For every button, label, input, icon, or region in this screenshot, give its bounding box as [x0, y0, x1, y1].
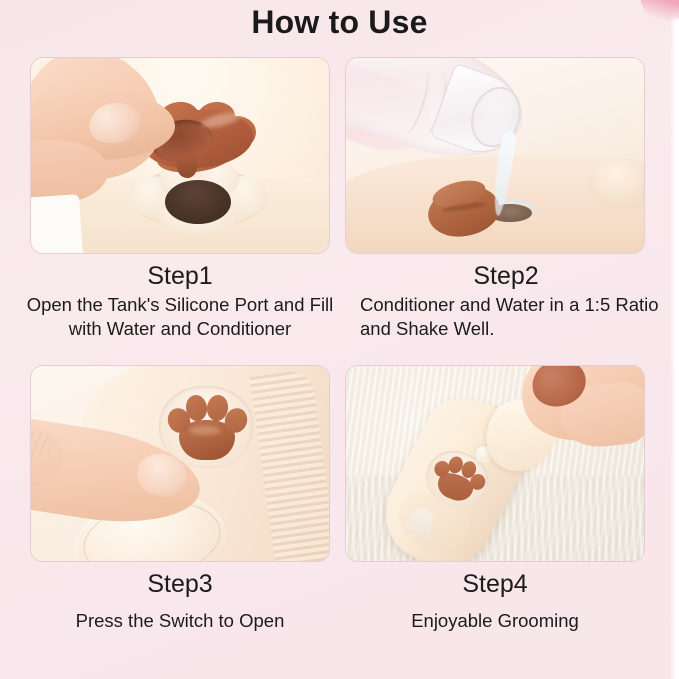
step-card-1: Step1 Open the Tank's Silicone Port and …: [31, 58, 329, 342]
step-2-photo: [346, 58, 644, 253]
step-1-caption: Step1 Open the Tank's Silicone Port and …: [10, 253, 350, 342]
step-card-2: Step2 Conditioner and Water in a 1:5 Rat…: [346, 58, 644, 342]
page-title: How to Use: [0, 4, 679, 41]
infographic-page: How to Use: [0, 0, 679, 679]
step-card-4: Step4 Enjoyable Grooming: [346, 366, 644, 633]
step-4-description: Enjoyable Grooming: [346, 609, 644, 634]
step-3-label: Step3: [31, 570, 329, 600]
step-1-photo: [31, 58, 329, 253]
step-1-description: Open the Tank's Silicone Port and Fill w…: [10, 293, 350, 343]
step-card-3: Step3 Press the Switch to Open: [31, 366, 329, 633]
step-4-label: Step4: [346, 570, 644, 600]
step-2-label: Step2: [346, 262, 666, 292]
paw-print-button: [167, 394, 247, 460]
page-right-edge: [670, 0, 679, 679]
step-4-photo: [346, 366, 644, 561]
fill-hole-shape: [165, 180, 231, 224]
step-2-description: Conditioner and Water in a 1:5 Ratio and…: [346, 293, 666, 343]
step-3-photo: [31, 366, 329, 561]
step-4-caption: Step4 Enjoyable Grooming: [346, 561, 644, 633]
step-3-description: Press the Switch to Open: [31, 609, 329, 634]
step-3-caption: Step3 Press the Switch to Open: [31, 561, 329, 633]
step-1-label: Step1: [10, 262, 350, 292]
white-background-card: [31, 194, 83, 253]
step-2-caption: Step2 Conditioner and Water in a 1:5 Rat…: [346, 253, 666, 342]
paw-highlight: [189, 426, 221, 435]
